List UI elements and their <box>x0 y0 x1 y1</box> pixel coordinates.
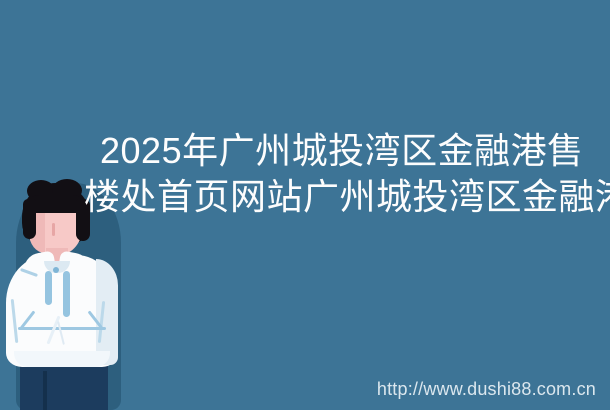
hair-side-left <box>23 199 36 239</box>
trouser-seam <box>43 371 47 410</box>
nose <box>52 223 55 236</box>
pocket-line <box>18 327 106 330</box>
hoodie-shadow-side <box>96 259 118 365</box>
hoodie-hem <box>14 351 110 367</box>
drawstring-knot <box>53 267 59 273</box>
promo-poster: 2025年广州城投湾区金融港售 楼处首页网站广州城投湾区金融港 http://w… <box>0 0 610 410</box>
watermark-url: http://www.dushi88.com.cn <box>377 379 596 400</box>
headline-line-1: 2025年广州城投湾区金融港售 <box>100 128 600 174</box>
headline-line-2: 楼处首页网站广州城投湾区金融港 <box>84 174 600 220</box>
poster-headline: 2025年广州城投湾区金融港售 楼处首页网站广州城投湾区金融港 <box>100 128 600 220</box>
drawstring-right <box>63 271 70 317</box>
drawstring-left <box>45 271 52 305</box>
